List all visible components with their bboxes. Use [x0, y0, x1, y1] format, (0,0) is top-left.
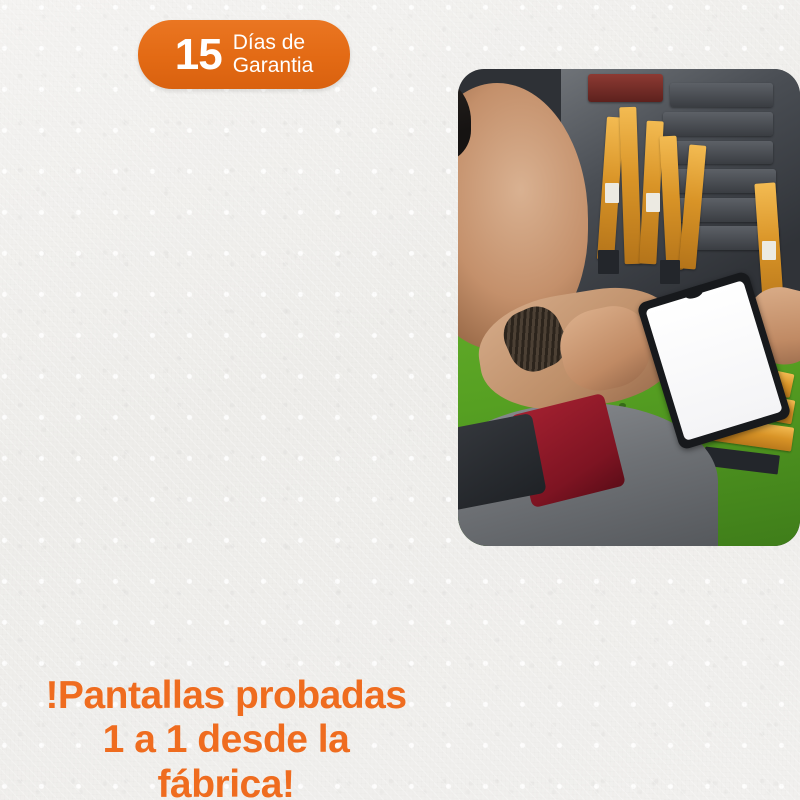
ribbon-connector [598, 250, 619, 274]
badge-label-line2: Garantia [233, 54, 314, 77]
ribbon-label [646, 193, 660, 212]
ribbon-label [605, 183, 619, 202]
page-headline: !Pantallas probadas 1 a 1 desde la fábri… [0, 674, 452, 800]
photo-scene [458, 69, 800, 546]
screen-tray [667, 141, 773, 165]
screen-tray [663, 112, 772, 136]
ribbon-connector [660, 260, 681, 284]
technician-photo [458, 69, 800, 546]
warranty-days-badge: 15 Días de Garantia [138, 20, 350, 89]
badge-days-label: Días de Garantia [233, 32, 314, 77]
badge-days-number: 15 [175, 33, 222, 77]
headline-line-2: 1 a 1 desde la [103, 718, 350, 761]
badge-label-line1: Días de [233, 31, 305, 54]
warranty-poster: 15 Días de Garantia [0, 0, 800, 800]
headline-line-1: !Pantallas probadas [45, 674, 406, 717]
technician-hair [458, 73, 471, 164]
screen-tray [670, 83, 773, 107]
screen-tray [588, 74, 663, 103]
headline-line-3: fábrica! [158, 763, 295, 800]
ribbon-label [762, 241, 776, 260]
